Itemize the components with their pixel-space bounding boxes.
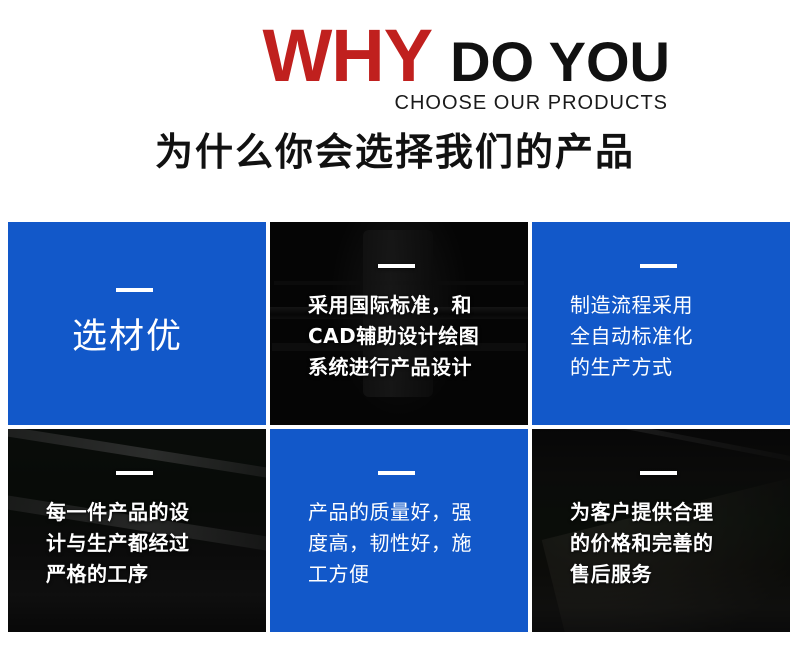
headline-primary: WHY xyxy=(262,16,432,96)
feature-cell-5-text: 产品的质量好，强 度高，韧性好，施 工方便 xyxy=(308,497,512,590)
feature-cell-1-content: 选材优 xyxy=(8,222,266,425)
divider-dash-icon xyxy=(116,471,153,475)
feature-cell-5: 产品的质量好，强 度高，韧性好，施 工方便 xyxy=(270,429,528,632)
headline-inner: WHY DO YOU xyxy=(262,16,670,102)
headline-block: WHY DO YOU xyxy=(0,16,790,96)
feature-cell-1-text: 选材优 xyxy=(72,314,250,360)
divider-dash-icon xyxy=(640,471,677,475)
divider-dash-icon xyxy=(116,288,153,292)
headline-subline: CHOOSE OUR PRODUCTS xyxy=(395,92,668,115)
feature-cell-2-content: 采用国际标准，和 CAD辅助设计绘图 系统进行产品设计 xyxy=(270,222,528,425)
feature-cell-4-text: 每一件产品的设 计与生产都经过 严格的工序 xyxy=(46,497,250,590)
feature-cell-5-content: 产品的质量好，强 度高，韧性好，施 工方便 xyxy=(270,429,528,632)
feature-cell-6: 为客户提供合理 的价格和完善的 售后服务 xyxy=(532,429,790,632)
feature-cell-3-content: 制造流程采用 全自动标准化 的生产方式 xyxy=(532,222,790,425)
banner-header: WHY DO YOU CHOOSE OUR PRODUCTS 为什么你会选择我们… xyxy=(0,0,790,200)
feature-cell-1: 选材优 xyxy=(8,222,266,425)
feature-cell-2: 采用国际标准，和 CAD辅助设计绘图 系统进行产品设计 xyxy=(270,222,528,425)
feature-cell-3-text: 制造流程采用 全自动标准化 的生产方式 xyxy=(570,290,774,383)
headline-secondary: DO YOU xyxy=(450,22,670,102)
feature-cell-6-text: 为客户提供合理 的价格和完善的 售后服务 xyxy=(570,497,774,590)
feature-cell-3: 制造流程采用 全自动标准化 的生产方式 xyxy=(532,222,790,425)
promo-banner: WHY DO YOU CHOOSE OUR PRODUCTS 为什么你会选择我们… xyxy=(0,0,790,665)
feature-cell-4: 每一件产品的设 计与生产都经过 严格的工序 xyxy=(8,429,266,632)
feature-cell-2-text: 采用国际标准，和 CAD辅助设计绘图 系统进行产品设计 xyxy=(308,290,512,383)
page-title: 为什么你会选择我们的产品 xyxy=(0,128,790,176)
feature-cell-6-content: 为客户提供合理 的价格和完善的 售后服务 xyxy=(532,429,790,632)
feature-grid: 选材优 采用国际标准，和 CAD辅助设计绘图 系统进行产品设计 制造流程采用 全… xyxy=(8,222,782,636)
divider-dash-icon xyxy=(378,264,415,268)
divider-dash-icon xyxy=(640,264,677,268)
divider-dash-icon xyxy=(378,471,415,475)
feature-cell-4-content: 每一件产品的设 计与生产都经过 严格的工序 xyxy=(8,429,266,632)
